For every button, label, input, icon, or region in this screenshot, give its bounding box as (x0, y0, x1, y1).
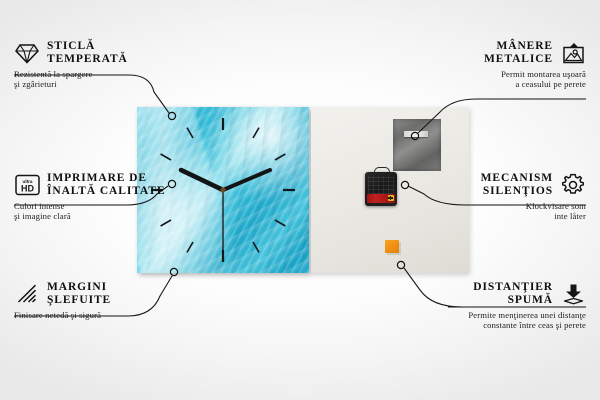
feature-desc: Klockvisare som inte låter (436, 201, 586, 222)
feature-head: MECANISM SILENŢIOS (436, 172, 586, 198)
feature-desc: Culori intense şi imagine clară (14, 201, 169, 222)
feature-title: IMPRIMARE DE ÎNALTĂ CALITATE (47, 172, 165, 198)
feature-foam-spacer: DISTANŢIER SPUMĂ Permite menţinerea unei… (406, 281, 586, 331)
beveled-edge-icon (14, 283, 40, 305)
feature-metal-handles: MÂNERE METALICE Permit montarea uşoară a… (436, 40, 586, 90)
svg-text:HD: HD (21, 184, 34, 194)
feature-polished-edges: MARGINI ŞLEFUITE Finisare netedă şi sigu… (14, 281, 169, 320)
feature-tempered-glass: STICLĂ TEMPERATĂ Rezistentă la spargere … (14, 40, 164, 90)
clock-mechanism (365, 172, 397, 206)
feature-head: MÂNERE METALICE (436, 40, 586, 66)
mechanism-texture (368, 176, 394, 194)
ultra-hd-icon: ultra HD (14, 174, 40, 196)
infographic-canvas: STICLĂ TEMPERATĂ Rezistentă la spargere … (0, 0, 600, 400)
feature-desc: Finisare netedă şi sigură (14, 310, 169, 320)
feature-desc: Permit montarea uşoară a ceasului pe per… (436, 69, 586, 90)
metal-hanger-plate (393, 119, 441, 171)
feature-silent-mechanism: MECANISM SILENŢIOS Klockvisare som inte … (436, 172, 586, 222)
feature-head: STICLĂ TEMPERATĂ (14, 40, 164, 66)
battery-plus-marker (388, 195, 394, 201)
feature-title: MECANISM SILENŢIOS (481, 172, 553, 198)
feature-head: MARGINI ŞLEFUITE (14, 281, 169, 307)
foam-spacer-pad (385, 240, 399, 253)
mechanism-loop (374, 167, 390, 176)
hanger-slot (404, 131, 428, 137)
feature-title: MÂNERE METALICE (484, 40, 553, 66)
diamond-icon (14, 42, 40, 64)
down-arrow-stack-icon (560, 283, 586, 305)
feature-title: DISTANŢIER SPUMĂ (473, 281, 553, 307)
feature-desc: Rezistentă la spargere şi zgârieturi (14, 69, 164, 90)
feature-head: DISTANŢIER SPUMĂ (406, 281, 586, 307)
battery (367, 194, 395, 203)
feature-desc: Permite menţinerea unei distanţe constan… (406, 310, 586, 331)
feature-head: ultra HD IMPRIMARE DE ÎNALTĂ CALITATE (14, 172, 169, 198)
gear-icon (560, 174, 586, 196)
feature-title: STICLĂ TEMPERATĂ (47, 40, 128, 66)
picture-hanger-icon (560, 42, 586, 64)
feature-hd-print: ultra HD IMPRIMARE DE ÎNALTĂ CALITATE Cu… (14, 172, 169, 222)
feature-title: MARGINI ŞLEFUITE (47, 281, 111, 307)
